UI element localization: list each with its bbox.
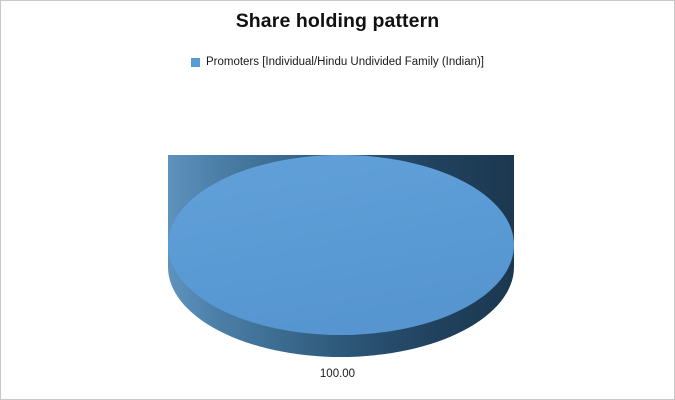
- pie-chart-area: [1, 1, 674, 399]
- pie-slice-promoters[interactable]: [168, 155, 514, 335]
- chart-canvas: Share holding pattern Promoters [Individ…: [0, 0, 675, 400]
- pie-chart-svg: [1, 1, 674, 399]
- pie-data-label: 100.00: [1, 368, 674, 380]
